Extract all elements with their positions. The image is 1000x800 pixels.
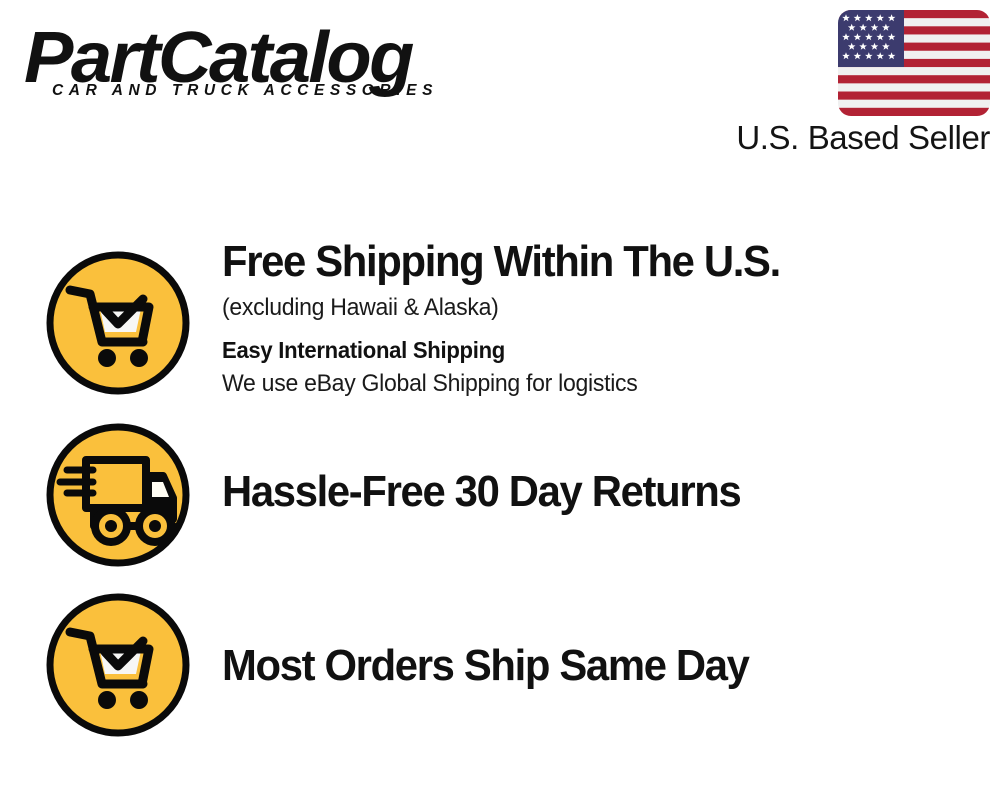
feature-title: Hassle-Free 30 Day Returns [222, 468, 740, 516]
shopping-cart-check-icon [45, 592, 191, 738]
feature-subheading: Easy International Shipping [222, 335, 505, 366]
shopping-cart-check-icon [45, 250, 191, 396]
feature-subdetail: We use eBay Global Shipping for logistic… [222, 368, 638, 400]
promo-banner: PartCatalog CAR AND TRUCK ACCESSORIES [0, 0, 1000, 800]
feature-title: Most Orders Ship Same Day [222, 642, 749, 690]
feature-title: Free Shipping Within The U.S. [222, 238, 780, 286]
feature-subnote: (excluding Hawaii & Alaska) [222, 292, 499, 324]
feature-list: Free Shipping Within The U.S. (excluding… [0, 0, 1000, 800]
delivery-truck-icon [45, 422, 191, 568]
